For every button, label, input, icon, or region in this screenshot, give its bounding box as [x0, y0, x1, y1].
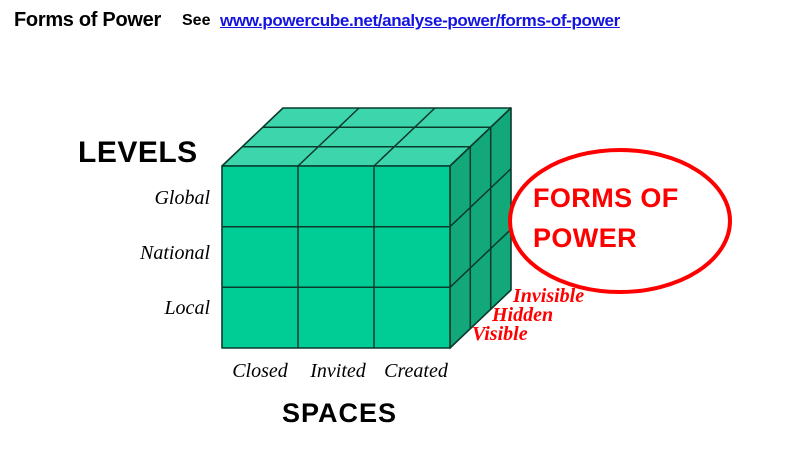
level-label-national: National	[80, 242, 210, 265]
level-label-local: Local	[80, 297, 210, 320]
slide-canvas: Forms of Power See www.powercube.net/ana…	[0, 0, 800, 452]
spaces-axis-title: SPACES	[282, 398, 397, 429]
form-label-visible: Visible	[472, 323, 528, 346]
space-label-created: Created	[370, 360, 462, 383]
forms-of-power-line1: FORMS OF	[533, 183, 679, 213]
levels-axis-title: LEVELS	[78, 136, 198, 170]
forms-of-power-line2: POWER	[533, 223, 637, 253]
cube-front-face	[222, 166, 450, 348]
level-label-global: Global	[80, 187, 210, 210]
forms-of-power-callout: FORMS OF POWER	[533, 178, 713, 258]
